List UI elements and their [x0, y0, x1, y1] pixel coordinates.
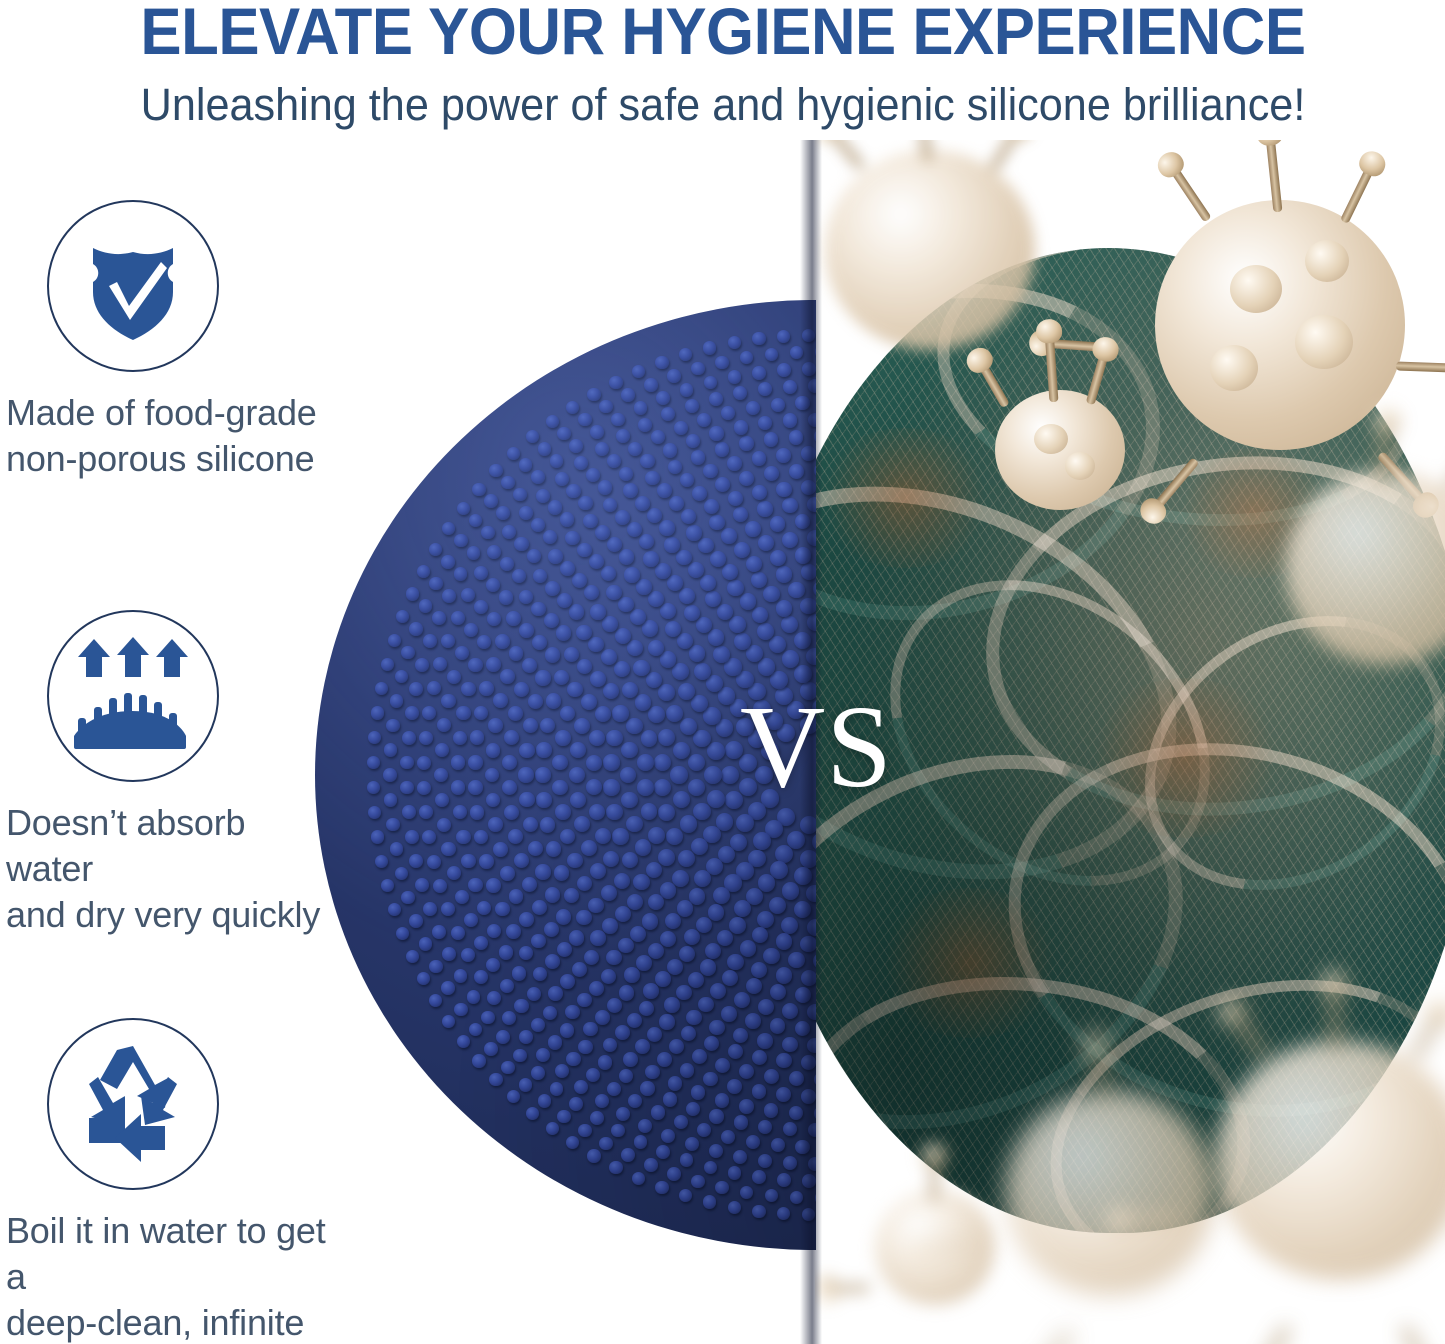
page-title: ELEVATE YOUR HYGIENE EXPERIENCE [54, 0, 1391, 66]
germ-particle-blurred [1285, 470, 1445, 665]
feature-item-quick-dry: Doesn’t absorb water and dry very quickl… [0, 610, 340, 938]
germ-particle-field [815, 140, 1445, 1344]
feature-caption: Doesn’t absorb water and dry very quickl… [0, 800, 340, 938]
vs-label: VS [740, 688, 893, 806]
germ-particle [1155, 200, 1405, 450]
page-subtitle: Unleashing the power of safe and hygieni… [41, 78, 1404, 132]
header: ELEVATE YOUR HYGIENE EXPERIENCE Unleashi… [0, 0, 1445, 150]
feature-caption: Made of food-grade non-porous silicone [0, 390, 340, 482]
comparison-stage: VS [300, 140, 1445, 1344]
germ-particle-blurred [1215, 1040, 1445, 1280]
shield-check-icon [47, 200, 219, 372]
germ-particle-blurred [825, 150, 1035, 350]
feature-caption: Boil it in water to get a deep-clean, in… [0, 1208, 340, 1344]
feature-list: Made of food-grade non-porous silicone [0, 150, 340, 1344]
loofah-side [815, 140, 1445, 1344]
infographic-page: ELEVATE YOUR HYGIENE EXPERIENCE Unleashi… [0, 0, 1445, 1344]
recycle-icon [47, 1018, 219, 1190]
germ-particle-blurred [875, 1190, 995, 1305]
germ-particle-blurred [1005, 1090, 1215, 1295]
feature-item-reusable: Boil it in water to get a deep-clean, in… [0, 1018, 340, 1344]
silicone-side [300, 140, 816, 1344]
germ-particle [995, 390, 1125, 510]
feature-item-food-grade: Made of food-grade non-porous silicone [0, 200, 340, 482]
quick-dry-bristles-icon [47, 610, 219, 782]
